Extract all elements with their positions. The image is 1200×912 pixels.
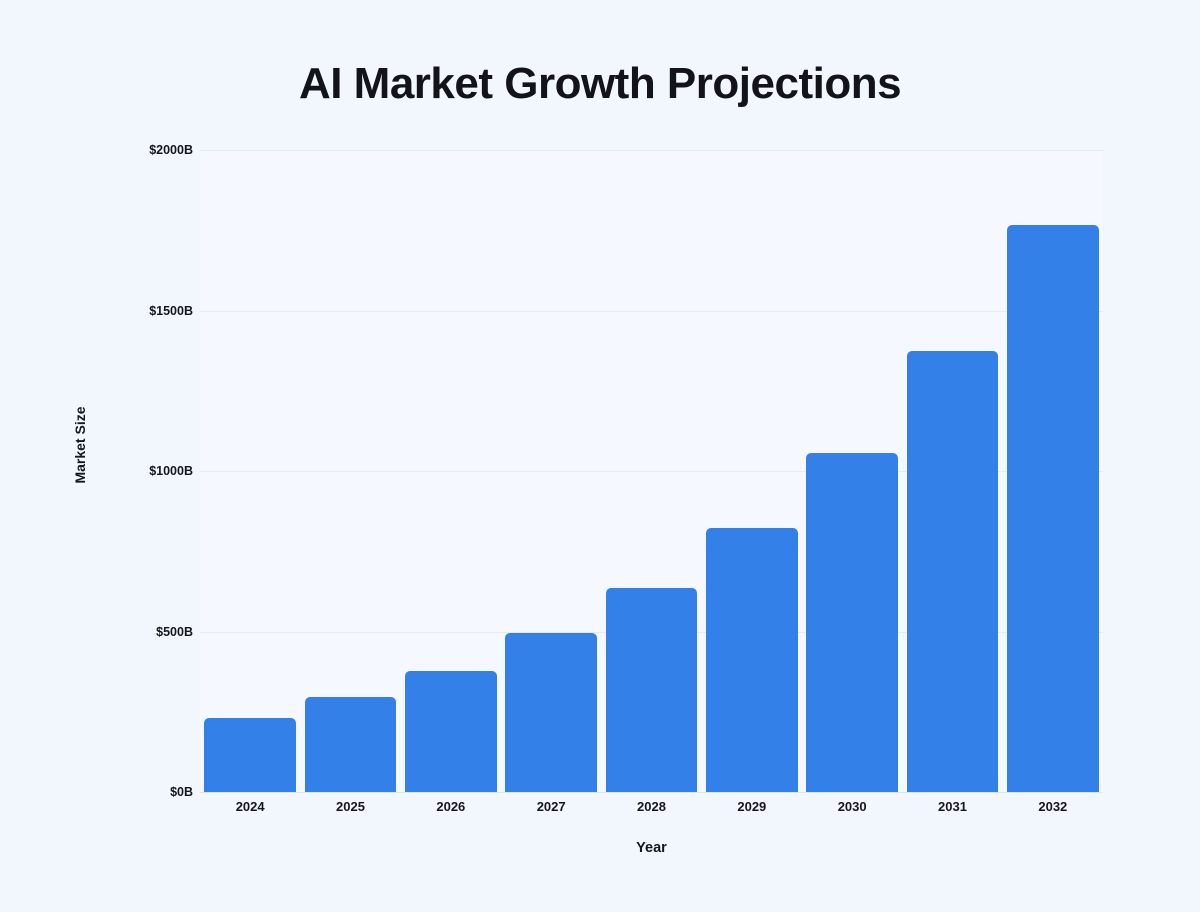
y-axis-tick-label: $1500B [149, 304, 193, 317]
bar[interactable] [505, 633, 597, 792]
plot-area [200, 150, 1103, 792]
x-axis-tick-label: 2032 [1003, 800, 1103, 813]
bars-layer [200, 150, 1103, 792]
bar[interactable] [405, 671, 497, 792]
bar[interactable] [1007, 225, 1099, 792]
x-axis-tick-label: 2028 [601, 800, 701, 813]
x-axis-tick-label: 2029 [702, 800, 802, 813]
x-axis-tick-label: 2031 [902, 800, 1002, 813]
y-axis-label: Market Size [73, 365, 87, 525]
y-axis-tick-label: $500B [156, 625, 193, 638]
bar[interactable] [305, 697, 397, 792]
bar[interactable] [806, 453, 898, 792]
y-axis-tick-label: $2000B [149, 144, 193, 157]
x-axis-tick-label: 2026 [401, 800, 501, 813]
y-axis-tick-label: $1000B [149, 465, 193, 478]
gridline [200, 792, 1103, 793]
bar[interactable] [606, 588, 698, 792]
x-axis-tick-label: 2030 [802, 800, 902, 813]
chart-title: AI Market Growth Projections [0, 62, 1200, 106]
x-axis-tick-label: 2025 [300, 800, 400, 813]
bar[interactable] [204, 718, 296, 792]
bar[interactable] [907, 351, 999, 792]
x-axis-tick-label: 2024 [200, 800, 300, 813]
bar[interactable] [706, 528, 798, 792]
y-axis-tick-label: $0B [170, 786, 193, 799]
x-axis-tick-label: 2027 [501, 800, 601, 813]
bar-chart: AI Market Growth Projections $0B$500B$10… [0, 0, 1200, 912]
x-axis-label: Year [200, 841, 1103, 856]
